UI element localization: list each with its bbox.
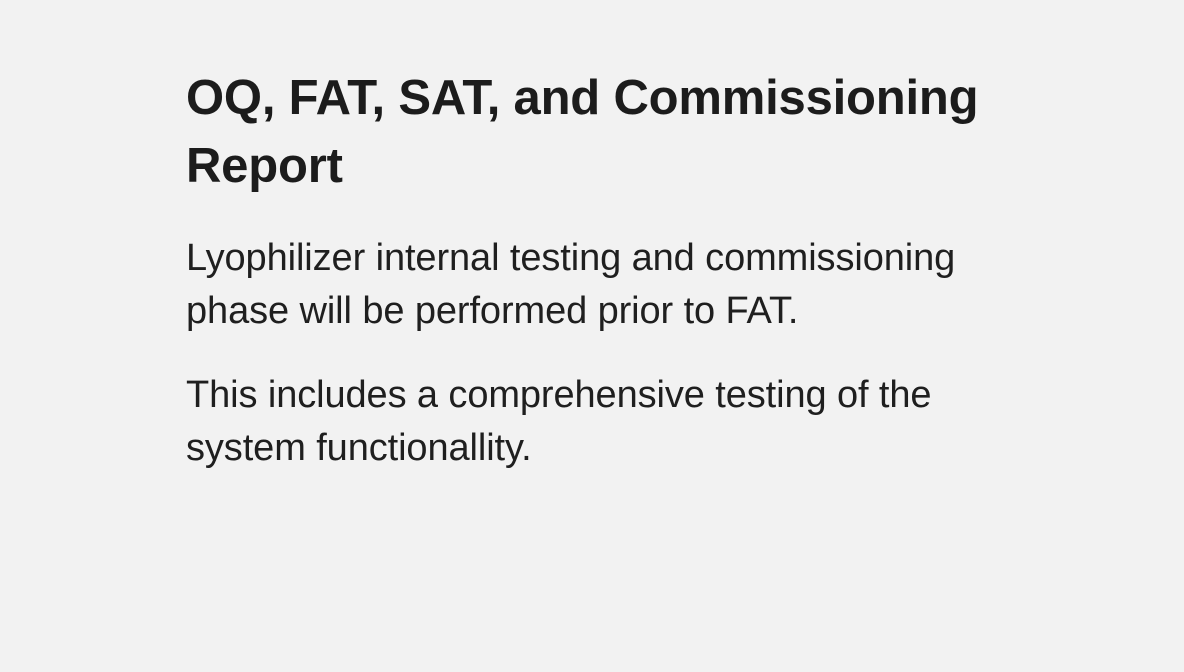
slide-canvas: OQ, FAT, SAT, and Commissioning Report L…	[0, 0, 1184, 672]
slide-title: OQ, FAT, SAT, and Commissioning Report	[186, 64, 998, 200]
slide-content-block: OQ, FAT, SAT, and Commissioning Report L…	[186, 64, 998, 475]
slide-paragraph-1: Lyophilizer internal testing and commiss…	[186, 232, 998, 338]
slide-paragraph-2: This includes a comprehensive testing of…	[186, 369, 998, 475]
